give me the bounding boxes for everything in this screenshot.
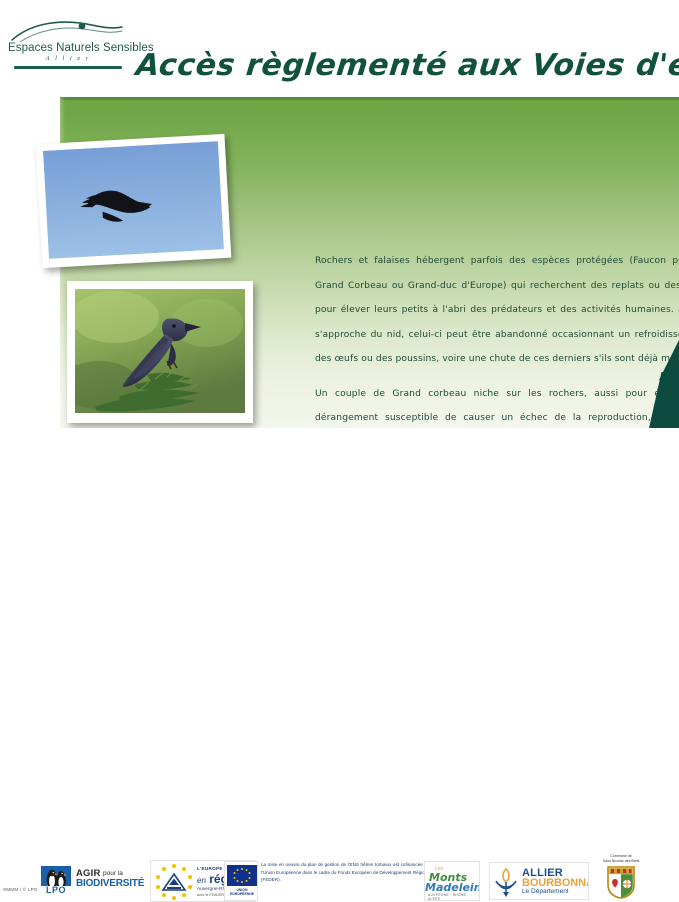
agir-pourla: pour la	[103, 870, 123, 877]
commune-line-2: Saint Nicolas des Biefs	[594, 859, 648, 864]
page-footer: SMMM / © LPO LPO	[0, 428, 679, 500]
page-title: Accès règlementé aux Voies d'escalade	[134, 46, 658, 88]
photo-credit: SMMM / © LPO	[3, 887, 38, 892]
lpo-wordmark: LPO	[39, 886, 73, 895]
le-departement-word: Le Département	[522, 888, 569, 895]
logo-underline	[14, 66, 122, 69]
photo-raven-in-flight-image	[43, 141, 224, 259]
raven-perched-illustration	[75, 289, 245, 413]
agir-biodiversite: BIODIVERSITÉ	[76, 878, 144, 889]
photo-raven-perched	[67, 281, 253, 423]
panel-top-shadow	[60, 97, 679, 100]
eu-flag-label: UNION EUROPÉENNE	[225, 888, 258, 896]
mountain-icon	[161, 872, 187, 892]
tulip-icon	[493, 867, 519, 897]
logo-commune-saint-nicolas: Commune de Saint Nicolas des Biefs	[594, 854, 648, 902]
commune-label: Commune de Saint Nicolas des Biefs	[594, 854, 648, 863]
raven-flight-illustration	[43, 141, 224, 259]
eu-flag-icon	[227, 865, 257, 886]
body-text-column: Rochers et falaises hébergent parfois de…	[315, 249, 679, 428]
coat-of-arms-icon	[606, 865, 636, 899]
logo-monts-madeleine: Les Monts Madeleine AUVERGNE · RHÔNE · A…	[424, 861, 480, 901]
madeleine-sub: AUVERGNE · RHÔNE · ALPES	[428, 893, 479, 901]
logo-agir-biodiversite: AGIR pour la BIODIVERSITÉ	[76, 866, 144, 894]
paragraph-protected-species: Rochers et falaises hébergent parfois de…	[315, 249, 679, 372]
logo-lpo: LPO	[39, 864, 73, 896]
photo-raven-perched-image	[75, 289, 245, 413]
feder-funding-text: La mise en oeuvre du plan de gestion de …	[261, 861, 431, 899]
feader-label: avec le FEADER	[197, 893, 224, 897]
photo-raven-in-flight	[36, 134, 232, 268]
logo-subtitle: A l l i e r	[8, 55, 128, 62]
paragraph-access-ban: Un couple de Grand corbeau niche sur les…	[315, 382, 679, 429]
logo-allier-bourbonnais: ALLIER BOURBONNAIS Le Département	[489, 862, 589, 900]
page-header: Espaces Naturels Sensibles A l l i e r A…	[0, 0, 679, 96]
leaf-swoosh-icon	[10, 18, 126, 44]
logo-espaces-naturels-sensibles: Espaces Naturels Sensibles A l l i e r	[8, 18, 128, 74]
logo-title: Espaces Naturels Sensibles	[8, 42, 128, 54]
poster-page: Espaces Naturels Sensibles A l l i e r A…	[0, 0, 679, 500]
logo-eu-flag: UNION EUROPÉENNE	[224, 861, 258, 901]
en-word: en	[197, 876, 206, 885]
